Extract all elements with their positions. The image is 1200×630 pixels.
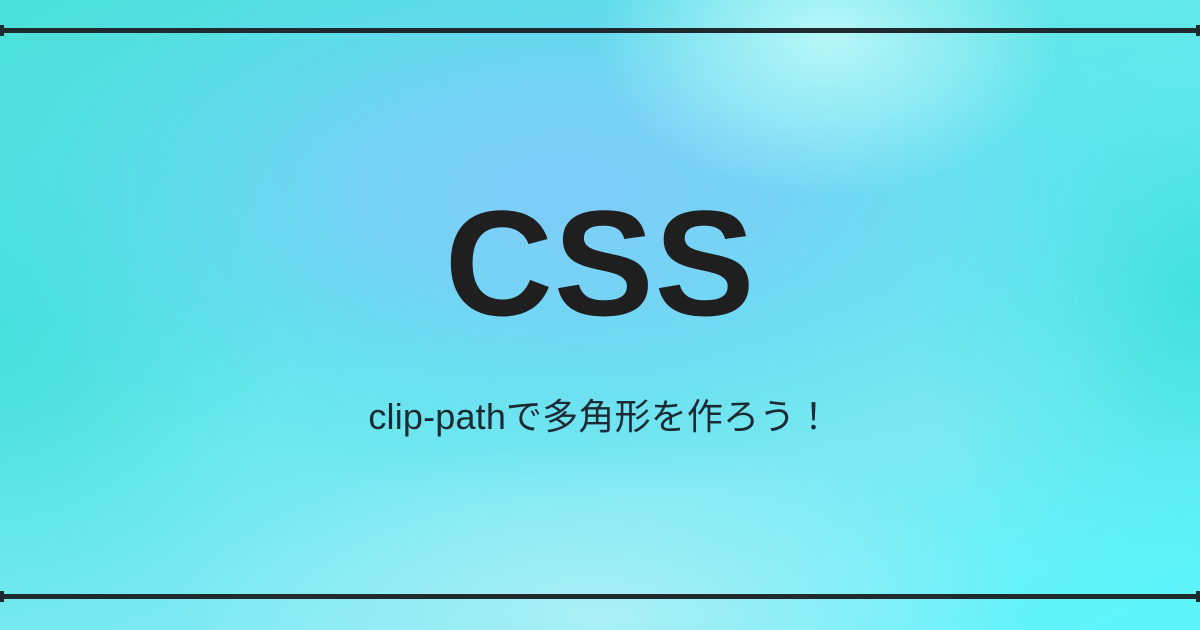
card-title: CSS: [445, 187, 756, 340]
card-content: CSS clip-pathで多角形を作ろう！: [0, 0, 1200, 630]
ogp-card: CSS clip-pathで多角形を作ろう！: [0, 0, 1200, 630]
card-subtitle: clip-pathで多角形を作ろう！: [368, 392, 831, 442]
